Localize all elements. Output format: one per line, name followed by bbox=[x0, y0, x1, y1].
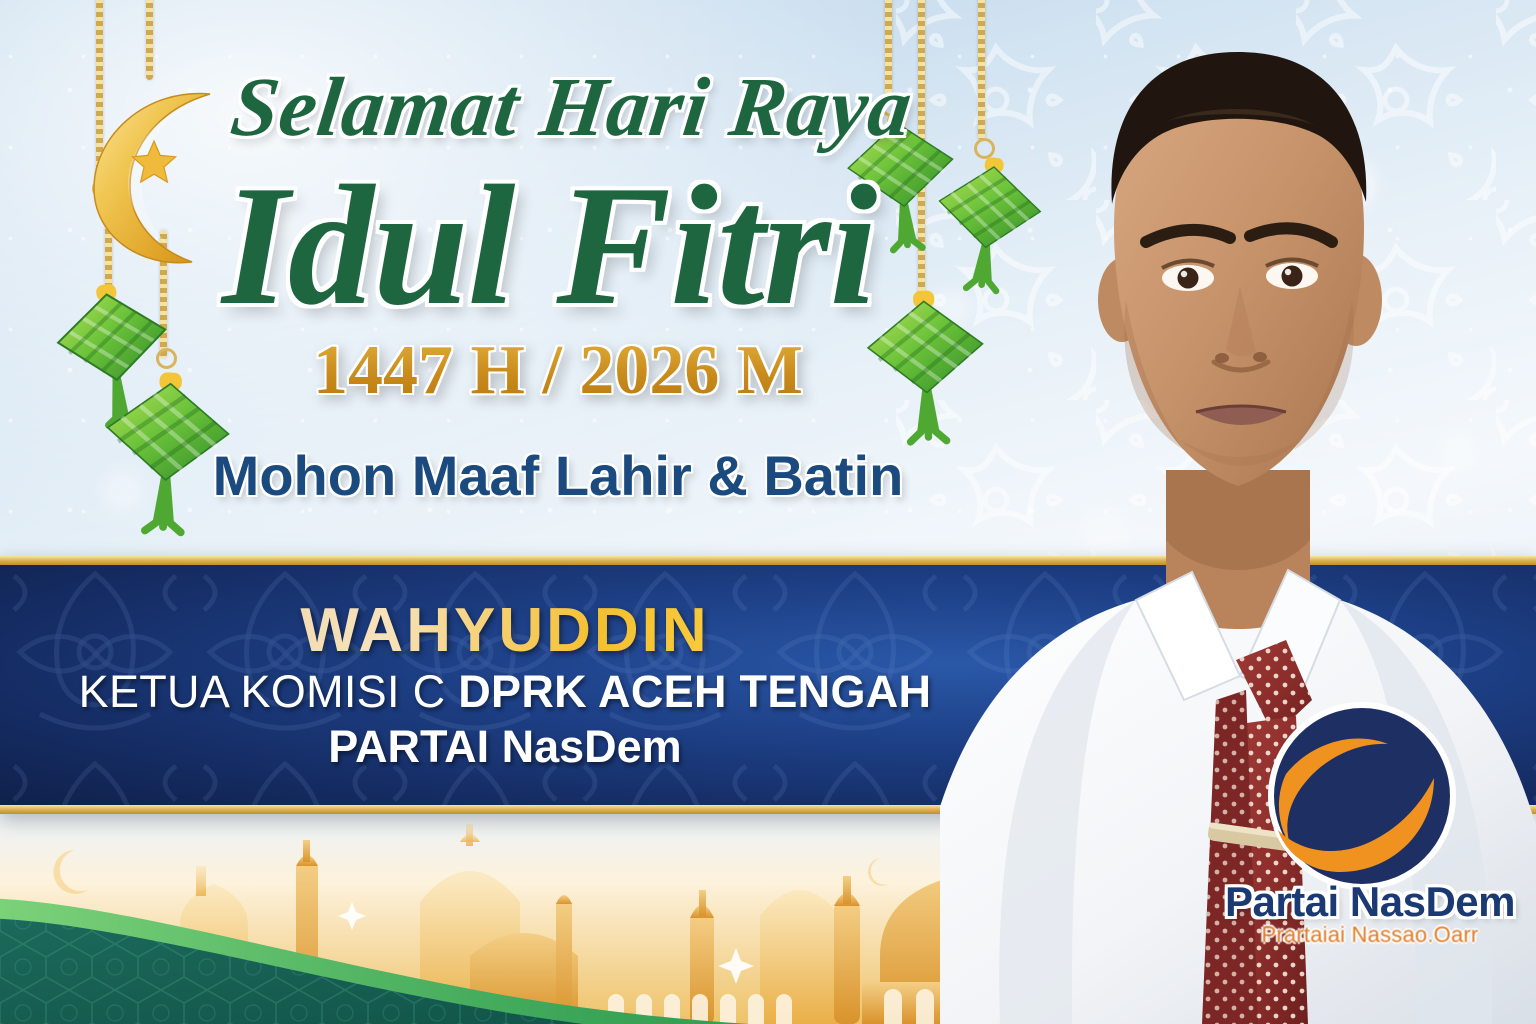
nasdem-crescent-globe-icon bbox=[1266, 700, 1458, 892]
nasdem-logo: Partai NasDem Prartaiai Nassao.Oarr bbox=[1248, 700, 1498, 950]
person-role-prefix: KETUA KOMISI C bbox=[79, 666, 459, 717]
greeting-line1: Selamat Hari Raya bbox=[227, 66, 877, 150]
greeting-year: 1447 H / 2026 M bbox=[278, 336, 838, 406]
hanging-bead-chain-icon bbox=[146, 0, 153, 80]
person-party: PARTAI NasDem bbox=[328, 722, 681, 772]
star-icon bbox=[130, 138, 178, 186]
person-role-emphasis: DPRK ACEH TENGAH bbox=[458, 666, 931, 717]
nasdem-logo-subtext: Prartaiai Nassao.Oarr bbox=[1220, 922, 1520, 948]
person-role: KETUA KOMISI C DPRK ACEH TENGAH bbox=[79, 667, 932, 717]
greeting-line2: Idul Fitri bbox=[222, 160, 942, 332]
idul-fitri-greeting-poster: Selamat Hari Raya Idul Fitri 1447 H / 20… bbox=[0, 0, 1536, 1024]
person-name: WAHYUDDIN bbox=[300, 598, 709, 663]
nasdem-logo-name: Partai NasDem bbox=[1220, 878, 1520, 926]
greeting-apology: Mohon Maaf Lahir & Batin bbox=[198, 448, 918, 504]
